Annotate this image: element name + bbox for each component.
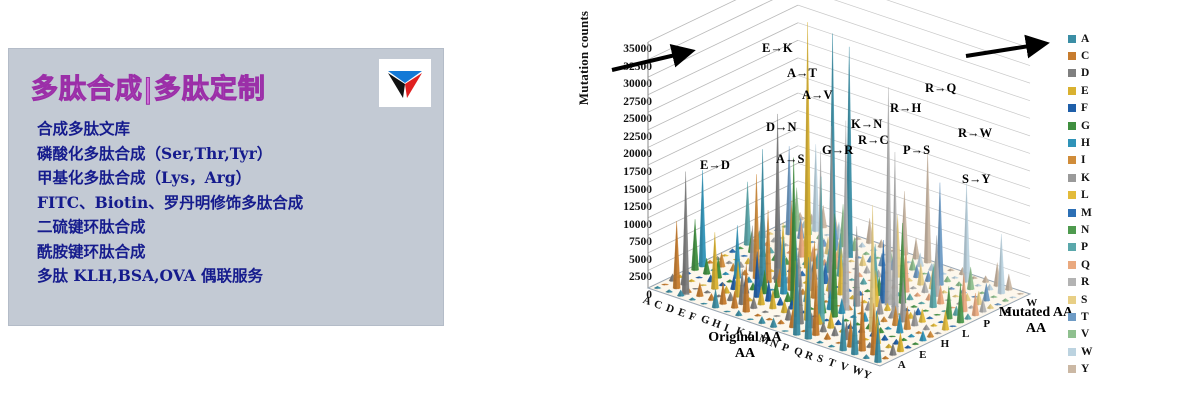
peak-annotation: G→R <box>822 143 853 158</box>
peak-annotation: R→W <box>958 126 992 141</box>
legend-label: E <box>1081 85 1089 97</box>
legend-label: I <box>1081 154 1085 166</box>
legend-item-n[interactable]: N <box>1068 221 1128 238</box>
legend-item-a[interactable]: A <box>1068 30 1128 47</box>
depth-axis-tick: L <box>962 328 969 340</box>
peak-annotation: R→H <box>890 101 921 116</box>
legend-label: Y <box>1081 363 1089 375</box>
legend-item-f[interactable]: F <box>1068 100 1128 117</box>
trend-arrow-left <box>612 52 688 70</box>
legend-item-y[interactable]: Y <box>1068 360 1128 377</box>
legend-item-w[interactable]: W <box>1068 343 1128 360</box>
legend-item-g[interactable]: G <box>1068 117 1128 134</box>
legend-label: D <box>1081 67 1089 79</box>
legend-swatch-icon <box>1068 104 1076 112</box>
legend-item-h[interactable]: H <box>1068 134 1128 151</box>
legend-item-c[interactable]: C <box>1068 47 1128 64</box>
legend-item-q[interactable]: Q <box>1068 256 1128 273</box>
legend-swatch-icon <box>1068 348 1076 356</box>
peak-annotation: E→K <box>762 41 793 56</box>
legend-item-m[interactable]: M <box>1068 204 1128 221</box>
legend-swatch-icon <box>1068 226 1076 234</box>
legend-item-l[interactable]: L <box>1068 187 1128 204</box>
legend-item-i[interactable]: I <box>1068 152 1128 169</box>
legend-label: F <box>1081 102 1088 114</box>
legend-item-r[interactable]: R <box>1068 273 1128 290</box>
legend-swatch-icon <box>1068 296 1076 304</box>
legend-item-d[interactable]: D <box>1068 65 1128 82</box>
legend-item-s[interactable]: S <box>1068 291 1128 308</box>
legend-swatch-icon <box>1068 243 1076 251</box>
screenshot-root: 多肽合成|多肽定制 合成多肽文库 磷酸化多肽合成（Ser,Thr,Tyr） 甲基… <box>0 0 1200 400</box>
legend-label: H <box>1081 137 1090 149</box>
plot-area <box>0 0 640 400</box>
legend-label: S <box>1081 294 1087 306</box>
legend-swatch-icon <box>1068 365 1076 373</box>
legend-swatch-icon <box>1068 35 1076 43</box>
peak-annotation: K→N <box>851 117 882 132</box>
trend-arrow-right <box>966 44 1042 56</box>
x-axis-title-line2: AA <box>735 346 755 361</box>
legend-item-e[interactable]: E <box>1068 82 1128 99</box>
legend-label: G <box>1081 120 1090 132</box>
depth-axis-tick: E <box>919 349 926 361</box>
depth-axis-title-line1: Mutated AA <box>999 305 1073 320</box>
x-axis-title: Original AA AA <box>690 330 800 362</box>
legend-swatch-icon <box>1068 69 1076 77</box>
legend-swatch-icon <box>1068 278 1076 286</box>
legend-swatch-icon <box>1068 52 1076 60</box>
legend-swatch-icon <box>1068 209 1076 217</box>
legend-swatch-icon <box>1068 139 1076 147</box>
depth-axis-tick: H <box>941 338 950 350</box>
legend-swatch-icon <box>1068 156 1076 164</box>
peak-annotation: P→S <box>903 143 930 158</box>
legend-label: Q <box>1081 259 1090 271</box>
peak-annotation: R→C <box>858 133 889 148</box>
legend-item-v[interactable]: V <box>1068 326 1128 343</box>
legend-label: A <box>1081 33 1089 45</box>
legend-label: L <box>1081 189 1089 201</box>
legend-swatch-icon <box>1068 313 1076 321</box>
legend-swatch-icon <box>1068 191 1076 199</box>
legend-swatch-icon <box>1068 261 1076 269</box>
legend-label: C <box>1081 50 1089 62</box>
depth-axis-tick: A <box>898 359 906 371</box>
peak-annotation: R→Q <box>925 81 956 96</box>
legend-swatch-icon <box>1068 122 1076 130</box>
legend-label: V <box>1081 328 1089 340</box>
legend-label: T <box>1081 311 1089 323</box>
legend-item-p[interactable]: P <box>1068 239 1128 256</box>
peak-annotation: S→Y <box>962 172 990 187</box>
series-legend[interactable]: ACDEFGHIKLMNPQRSTVWY <box>1068 30 1128 378</box>
peak-annotation: E→D <box>700 158 730 173</box>
legend-item-k[interactable]: K <box>1068 169 1128 186</box>
legend-label: W <box>1081 346 1093 358</box>
peak-annotation: A→T <box>787 66 817 81</box>
legend-label: R <box>1081 276 1089 288</box>
legend-swatch-icon <box>1068 87 1076 95</box>
legend-swatch-icon <box>1068 330 1076 338</box>
legend-label: K <box>1081 172 1090 184</box>
legend-label: P <box>1081 241 1088 253</box>
legend-label: M <box>1081 207 1092 219</box>
legend-item-t[interactable]: T <box>1068 308 1128 325</box>
peak-annotation: A→V <box>802 88 833 103</box>
peak-annotation: A→S <box>776 152 804 167</box>
depth-axis-title-line2: AA <box>1026 321 1046 336</box>
legend-swatch-icon <box>1068 174 1076 182</box>
plot-svg <box>0 0 1200 400</box>
legend-label: N <box>1081 224 1089 236</box>
peak-annotation: D→N <box>766 120 797 135</box>
x-axis-title-line1: Original AA <box>708 330 782 345</box>
